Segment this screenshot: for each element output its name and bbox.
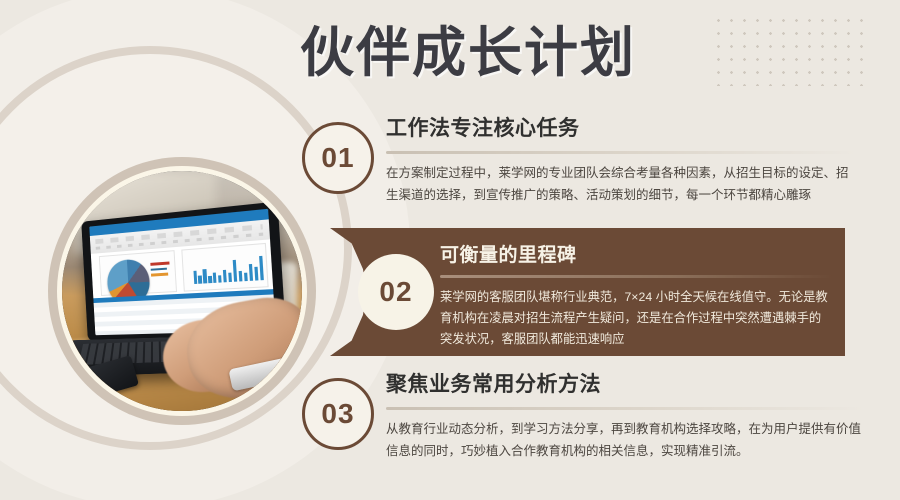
divider-03	[386, 407, 864, 410]
dot-grid-icon	[712, 14, 864, 86]
photo-laptop-desk	[62, 171, 302, 411]
list-item-body-01: 在方案制定过程中，莱学网的专业团队会综合考量各种因素，从招生目标的设定、招生渠道…	[386, 163, 856, 207]
slide-canvas: 伙伴成长计划 01 工作法专注核心任务 在方案制定过程中，莱学网的专业团队会综合…	[0, 0, 900, 500]
step-number-badge-02: 02	[358, 254, 434, 330]
list-item-heading-01: 工作法专注核心任务	[386, 112, 856, 142]
list-item-02: 02 可衡量的里程碑 莱学网的客服团队堪称行业典范，7×24 小时全天候在线值守…	[330, 228, 845, 356]
list-item-text-03: 聚焦业务常用分析方法 从教育行业动态分析，到学习方法分享，再到教育机构选择攻略，…	[386, 368, 864, 463]
list-item-heading-03: 聚焦业务常用分析方法	[386, 368, 864, 398]
step-number-badge-03: 03	[302, 378, 374, 450]
step-number-badge-01: 01	[302, 122, 374, 194]
divider-01	[386, 151, 856, 154]
list-item-text-02: 可衡量的里程碑 莱学网的客服团队堪称行业典范，7×24 小时全天候在线值守。无论…	[440, 240, 832, 350]
list-item-body-02: 莱学网的客服团队堪称行业典范，7×24 小时全天候在线值守。无论是教育机构在凌晨…	[440, 287, 832, 350]
bar-chart	[182, 242, 269, 292]
spreadsheet-charts	[99, 242, 268, 296]
page-title: 伙伴成长计划	[300, 8, 636, 87]
list-item-text-01: 工作法专注核心任务 在方案制定过程中，莱学网的专业团队会综合考量各种因素，从招生…	[386, 112, 856, 207]
photo-circle	[57, 166, 307, 416]
bar-chart-bars	[193, 251, 264, 283]
divider-02	[440, 275, 832, 278]
list-item-heading-02: 可衡量的里程碑	[440, 240, 832, 267]
pie-chart-legend	[150, 261, 172, 279]
pie-chart	[99, 249, 177, 296]
list-item-body-03: 从教育行业动态分析，到学习方法分享，再到教育机构选择攻略，在为用户提供有价值信息…	[386, 419, 864, 463]
